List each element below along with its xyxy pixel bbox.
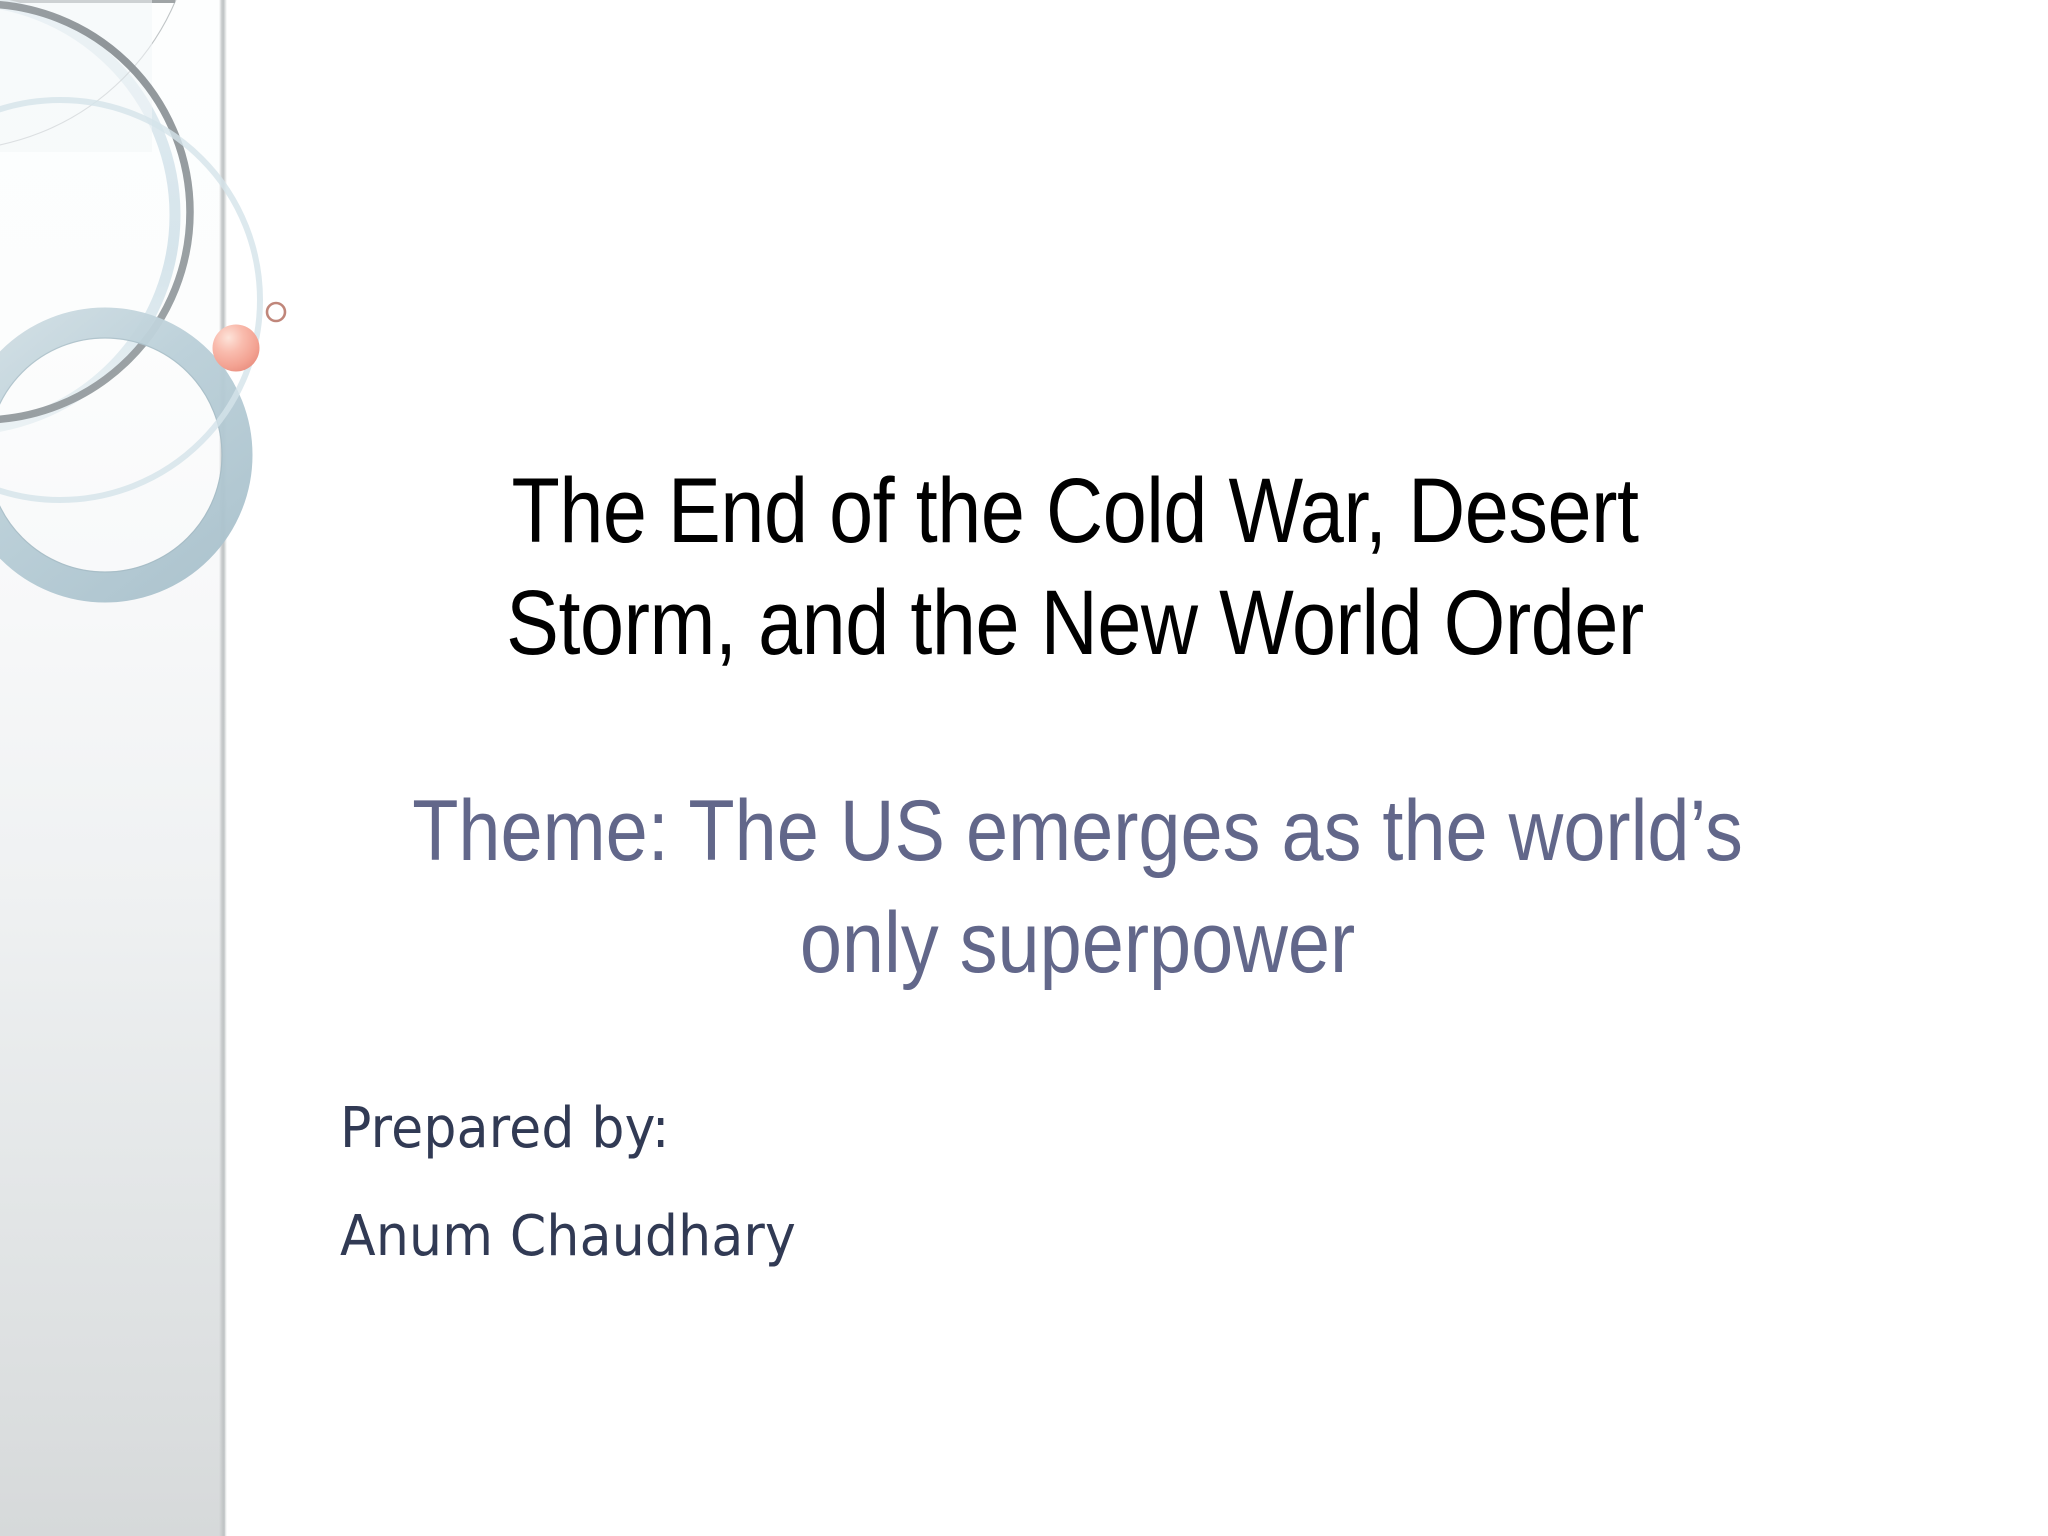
slide-theme: Theme: The US emerges as the world’s onl… — [225, 775, 1930, 999]
left-decorative-band — [0, 0, 225, 1536]
band-top-edge-line — [0, 0, 175, 3]
band-divider-line — [219, 0, 227, 1536]
title-line-2: Storm, and the New World Order — [344, 567, 1806, 679]
slide-title: The End of the Cold War, Desert Storm, a… — [225, 455, 1925, 679]
prepared-by-label: Prepared by: — [340, 1075, 1363, 1183]
author-name: Anum Chaudhary — [340, 1183, 1363, 1291]
title-line-1: The End of the Cold War, Desert — [344, 455, 1806, 567]
theme-line-2: only superpower — [327, 887, 1827, 999]
slide-canvas: The End of the Cold War, Desert Storm, a… — [0, 0, 2048, 1536]
author-credit: Prepared by: Anum Chaudhary — [340, 1075, 1440, 1291]
small-pink-outline-ring — [267, 303, 285, 321]
theme-line-1: Theme: The US emerges as the world’s — [327, 775, 1827, 887]
